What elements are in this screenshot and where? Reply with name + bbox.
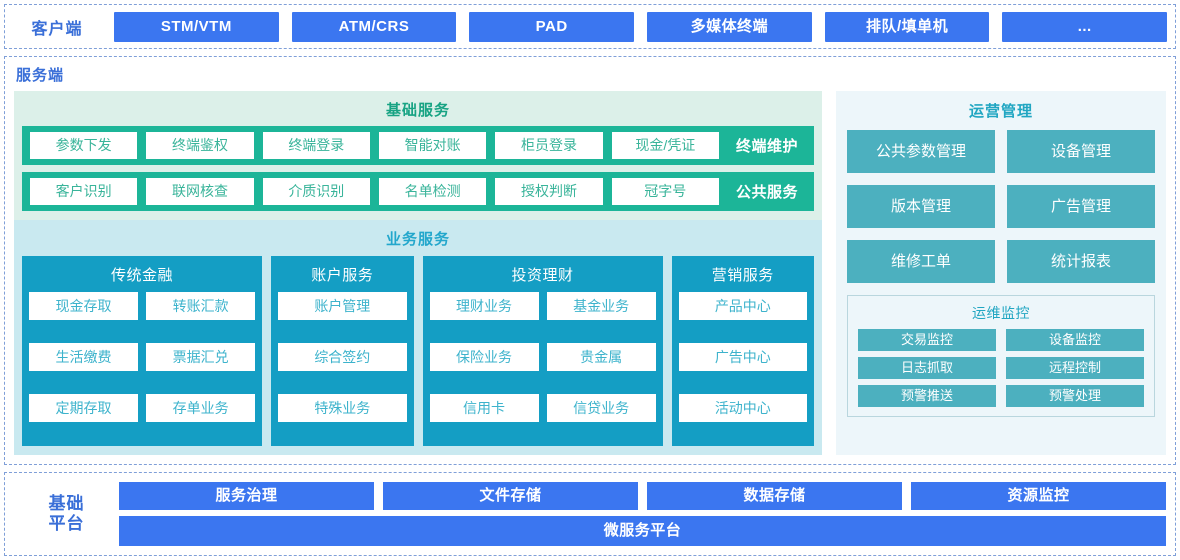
om-monitoring-title: 运维监控 [858, 300, 1144, 329]
platform-chip-service-governance[interactable]: 服务治理 [119, 482, 374, 510]
ops-chip-public-parameter-management[interactable]: 公共参数管理 [847, 130, 995, 173]
operations-management-panel: 运营管理 公共参数管理 设备管理 版本管理 广告管理 维修工单 统计报表 运维监… [836, 91, 1166, 455]
server-columns: 基础服务 参数下发 终端鉴权 终端登录 智能对账 柜员登录 现金/凭证 终端维护… [14, 91, 1166, 455]
business-group-title-marketing-service: 营销服务 [679, 261, 807, 292]
biz-chip-product-center[interactable]: 产品中心 [679, 292, 807, 320]
client-item-multimedia-terminal[interactable]: 多媒体终端 [647, 12, 812, 42]
server-layer-label: 服务端 [16, 64, 1166, 85]
client-item-queue-form-machine[interactable]: 排队/填单机 [825, 12, 990, 42]
services-column: 基础服务 参数下发 终端鉴权 终端登录 智能对账 柜员登录 现金/凭证 终端维护… [14, 91, 822, 455]
biz-chip-special-business[interactable]: 特殊业务 [278, 394, 406, 422]
basic-services-row-label-public-service: 公共服务 [728, 181, 806, 202]
biz-chip-advertising-center[interactable]: 广告中心 [679, 343, 807, 371]
monitor-chip-log-capture[interactable]: 日志抓取 [858, 357, 996, 379]
operations-management-title: 运营管理 [847, 96, 1155, 130]
biz-chip-wealth-management[interactable]: 理财业务 [430, 292, 539, 320]
monitor-chip-alert-handling[interactable]: 预警处理 [1006, 385, 1144, 407]
basic-services-row-public-service: 客户识别 联网核查 介质识别 名单检测 授权判断 冠字号 公共服务 [22, 172, 814, 211]
basic-chip-smart-reconciliation[interactable]: 智能对账 [379, 132, 486, 159]
monitor-chip-remote-control[interactable]: 远程控制 [1006, 357, 1144, 379]
biz-chip-credit-card[interactable]: 信用卡 [430, 394, 539, 422]
business-group-grid-account-service: 账户管理 综合签约 特殊业务 [278, 292, 406, 438]
biz-chip-account-management[interactable]: 账户管理 [278, 292, 406, 320]
business-group-investment-finance: 投资理财 理财业务 基金业务 保险业务 贵金属 信用卡 信贷业务 [423, 256, 663, 446]
basic-chip-terminal-auth[interactable]: 终端鉴权 [146, 132, 253, 159]
biz-chip-certificate-deposit[interactable]: 存单业务 [146, 394, 255, 422]
ops-chip-repair-work-order[interactable]: 维修工单 [847, 240, 995, 283]
business-group-title-investment-finance: 投资理财 [430, 261, 656, 292]
basic-chip-crown-number[interactable]: 冠字号 [612, 178, 719, 205]
business-group-title-traditional-finance: 传统金融 [29, 261, 255, 292]
biz-chip-time-deposit[interactable]: 定期存取 [29, 394, 138, 422]
platform-label-line2: 平台 [14, 514, 119, 534]
biz-chip-credit-business[interactable]: 信贷业务 [547, 394, 656, 422]
platform-label-line1: 基础 [14, 494, 119, 514]
basic-chip-list-detection[interactable]: 名单检测 [379, 178, 486, 205]
business-group-traditional-finance: 传统金融 现金存取 转账汇款 生活缴费 票据汇兑 定期存取 存单业务 [22, 256, 262, 446]
basic-chip-param-distribution[interactable]: 参数下发 [30, 132, 137, 159]
basic-services-row-label-terminal-maintenance: 终端维护 [728, 135, 806, 156]
business-group-account-service: 账户服务 账户管理 综合签约 特殊业务 [271, 256, 413, 446]
biz-chip-comprehensive-signing[interactable]: 综合签约 [278, 343, 406, 371]
monitor-chip-alert-push[interactable]: 预警推送 [858, 385, 996, 407]
business-group-grid-marketing-service: 产品中心 广告中心 活动中心 [679, 292, 807, 438]
ops-chip-advertising-management[interactable]: 广告管理 [1007, 185, 1155, 228]
ops-chip-statistical-report[interactable]: 统计报表 [1007, 240, 1155, 283]
business-group-grid-traditional-finance: 现金存取 转账汇款 生活缴费 票据汇兑 定期存取 存单业务 [29, 292, 255, 438]
monitor-chip-transaction-monitoring[interactable]: 交易监控 [858, 329, 996, 351]
client-item-pad[interactable]: PAD [469, 12, 634, 42]
ops-chip-version-management[interactable]: 版本管理 [847, 185, 995, 228]
om-monitoring-panel: 运维监控 交易监控 设备监控 日志抓取 远程控制 预警推送 预警处理 [847, 295, 1155, 417]
business-services-groups: 传统金融 现金存取 转账汇款 生活缴费 票据汇兑 定期存取 存单业务 [22, 256, 814, 446]
biz-chip-cash-deposit-withdraw[interactable]: 现金存取 [29, 292, 138, 320]
biz-chip-bill-exchange[interactable]: 票据汇兑 [146, 343, 255, 371]
platform-chip-data-storage[interactable]: 数据存储 [647, 482, 902, 510]
ops-chip-device-management[interactable]: 设备管理 [1007, 130, 1155, 173]
platform-top-row: 服务治理 文件存储 数据存储 资源监控 [119, 482, 1166, 510]
basic-services-title: 基础服务 [22, 96, 814, 126]
operations-management-grid: 公共参数管理 设备管理 版本管理 广告管理 维修工单 统计报表 [847, 130, 1155, 283]
client-item-stm-vtm[interactable]: STM/VTM [114, 12, 279, 42]
platform-layer-label: 基础 平台 [14, 494, 119, 535]
platform-chip-file-storage[interactable]: 文件存储 [383, 482, 638, 510]
business-group-title-account-service: 账户服务 [278, 261, 406, 292]
business-services-panel: 业务服务 传统金融 现金存取 转账汇款 生活缴费 票据汇兑 定期存取 存单业务 [14, 220, 822, 455]
basic-chip-cash-voucher[interactable]: 现金/凭证 [612, 132, 719, 159]
biz-chip-transfer-remittance[interactable]: 转账汇款 [146, 292, 255, 320]
basic-chip-customer-identification[interactable]: 客户识别 [30, 178, 137, 205]
client-layer-label: 客户端 [13, 15, 101, 39]
biz-chip-activity-center[interactable]: 活动中心 [679, 394, 807, 422]
business-services-title: 业务服务 [22, 224, 814, 256]
monitor-chip-device-monitoring[interactable]: 设备监控 [1006, 329, 1144, 351]
biz-chip-insurance-business[interactable]: 保险业务 [430, 343, 539, 371]
server-layer: 服务端 基础服务 参数下发 终端鉴权 终端登录 智能对账 柜员登录 现金/凭证 … [4, 56, 1176, 465]
basic-services-row-terminal-maintenance: 参数下发 终端鉴权 终端登录 智能对账 柜员登录 现金/凭证 终端维护 [22, 126, 814, 165]
basic-chip-terminal-login[interactable]: 终端登录 [263, 132, 370, 159]
architecture-diagram: 客户端 STM/VTM ATM/CRS PAD 多媒体终端 排队/填单机 ...… [0, 0, 1180, 560]
biz-chip-fund-business[interactable]: 基金业务 [547, 292, 656, 320]
client-layer: 客户端 STM/VTM ATM/CRS PAD 多媒体终端 排队/填单机 ... [4, 4, 1176, 49]
basic-chip-authorization-judgement[interactable]: 授权判断 [495, 178, 602, 205]
platform-chip-resource-monitoring[interactable]: 资源监控 [911, 482, 1166, 510]
basic-services-panel: 基础服务 参数下发 终端鉴权 终端登录 智能对账 柜员登录 现金/凭证 终端维护… [14, 91, 822, 220]
client-item-more[interactable]: ... [1002, 12, 1167, 42]
platform-layer: 基础 平台 服务治理 文件存储 数据存储 资源监控 微服务平台 [4, 472, 1176, 556]
business-group-grid-investment-finance: 理财业务 基金业务 保险业务 贵金属 信用卡 信贷业务 [430, 292, 656, 438]
basic-chip-online-verification[interactable]: 联网核查 [146, 178, 253, 205]
biz-chip-utility-payment[interactable]: 生活缴费 [29, 343, 138, 371]
om-monitoring-grid: 交易监控 设备监控 日志抓取 远程控制 预警推送 预警处理 [858, 329, 1144, 407]
basic-chip-teller-login[interactable]: 柜员登录 [495, 132, 602, 159]
client-item-atm-crs[interactable]: ATM/CRS [292, 12, 457, 42]
basic-chip-media-recognition[interactable]: 介质识别 [263, 178, 370, 205]
platform-items: 服务治理 文件存储 数据存储 资源监控 微服务平台 [119, 482, 1166, 546]
business-group-marketing-service: 营销服务 产品中心 广告中心 活动中心 [672, 256, 814, 446]
biz-chip-precious-metals[interactable]: 贵金属 [547, 343, 656, 371]
platform-chip-microservice-platform[interactable]: 微服务平台 [119, 516, 1166, 546]
